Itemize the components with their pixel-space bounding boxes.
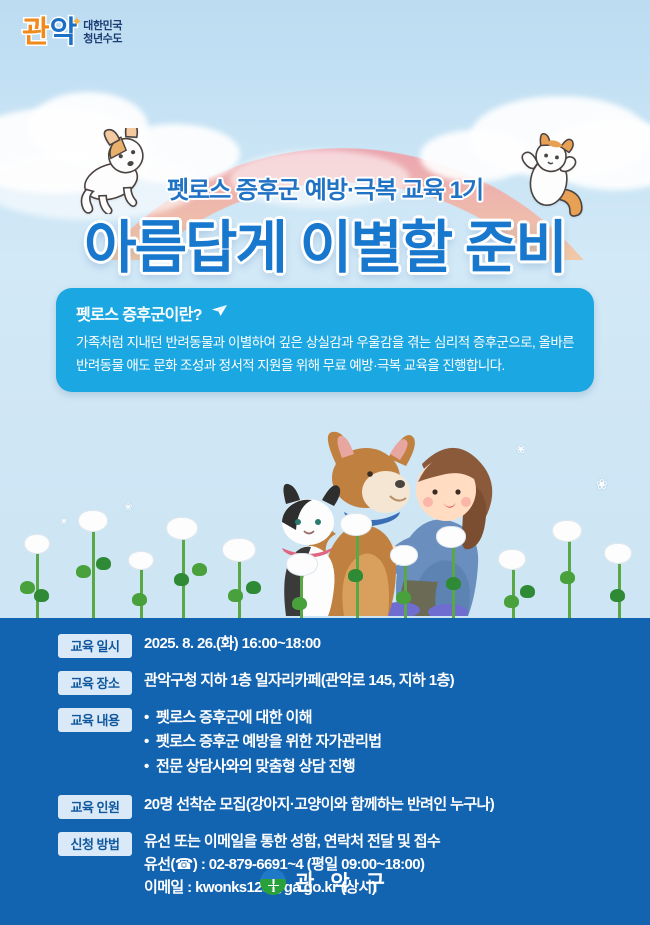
- clover-leaf: [192, 563, 207, 576]
- poster: 관 악 ✦ 대한민국 청년수도: [0, 0, 650, 925]
- clover-bloom: [24, 534, 50, 554]
- clover-bloom: [436, 526, 466, 548]
- clover-stem: [512, 562, 515, 620]
- clover-stem: [404, 558, 407, 620]
- clover-stem: [92, 524, 95, 620]
- definition-box-title: 펫로스 증후군이란?: [76, 301, 574, 325]
- list-item: 펫로스 증후군에 대한 이해: [144, 706, 618, 730]
- definition-box: 펫로스 증후군이란? 가족처럼 지내던 반려동물과 이별하여 깊은 상실감과 우…: [56, 288, 594, 392]
- definition-box-body: 가족처럼 지내던 반려동물과 이별하여 깊은 상실감과 우울감을 겪는 심리적 …: [76, 331, 574, 377]
- content-bullet-list: 펫로스 증후군에 대한 이해 펫로스 증후군 예방을 위한 자가관리법 전문 상…: [144, 706, 618, 779]
- poster-kicker: 펫로스 증후군 예방·극복 교육 1기: [0, 170, 650, 205]
- definition-box-title-text: 펫로스 증후군이란?: [76, 301, 202, 325]
- clover-bloom: [340, 513, 372, 536]
- details-panel: 교육 일시 2025. 8. 26.(화) 16:00~18:00 교육 장소 …: [0, 618, 650, 925]
- clover-leaf: [174, 573, 189, 586]
- clover-leaf: [396, 591, 411, 604]
- detail-row-location: 교육 장소 관악구청 지하 1층 일자리카페(관악로 145, 지하 1층): [58, 669, 618, 695]
- clover-leaf: [132, 593, 147, 606]
- sparkle-icon: ✦: [71, 15, 82, 28]
- clover-stem: [618, 556, 621, 620]
- illustration-scene: ❀ ❀ ❀ ❀: [0, 420, 650, 620]
- clover-bloom: [128, 551, 154, 570]
- logo-tagline-line-1: 대한민국: [83, 20, 122, 33]
- footer-office-name: 관 악 구: [295, 867, 390, 897]
- detail-label: 교육 내용: [58, 708, 132, 732]
- logo-char-gwan: 관: [22, 18, 49, 48]
- clover-leaf: [228, 589, 243, 602]
- detail-label: 신청 방법: [58, 832, 132, 856]
- clover-leaf: [560, 571, 575, 584]
- clover-bloom: [390, 545, 418, 566]
- detail-value: 펫로스 증후군에 대한 이해 펫로스 증후군 예방을 위한 자가관리법 전문 상…: [144, 706, 618, 779]
- application-line-1: 유선 또는 이메일을 통한 성함, 연락처 전달 및 접수: [144, 830, 618, 853]
- detail-label: 교육 장소: [58, 671, 132, 695]
- clover-leaf: [34, 589, 49, 602]
- logo-tagline: 대한민국 청년수도: [83, 20, 122, 46]
- clover-leaf: [246, 581, 261, 594]
- logo-mark: 관 악 ✦: [22, 18, 76, 48]
- logo-tagline-line-2: 청년수도: [83, 33, 122, 46]
- clover-leaf: [292, 597, 307, 610]
- clover-stem: [238, 554, 241, 620]
- clover-leaf: [348, 569, 363, 582]
- detail-label: 교육 일시: [58, 634, 132, 658]
- clover-bloom: [498, 549, 526, 570]
- gwanak-youth-capital-logo: 관 악 ✦ 대한민국 청년수도: [22, 18, 122, 48]
- clover-leaf: [610, 589, 625, 602]
- list-item: 펫로스 증후군 예방을 위한 자가관리법: [144, 730, 618, 754]
- gwanak-gu-emblem-icon: [260, 869, 286, 895]
- clover-bloom: [286, 553, 318, 576]
- clover-stem: [140, 564, 143, 620]
- clover-leaf: [504, 595, 519, 608]
- detail-row-capacity: 교육 인원 20명 선착순 모집(강아지·고양이와 함께하는 반려인 누구나): [58, 793, 618, 819]
- clover-bloom: [552, 520, 582, 542]
- clover-bloom: [222, 538, 256, 562]
- detail-value: 2025. 8. 26.(화) 16:00~18:00: [144, 632, 618, 655]
- footer-branding: 관 악 구: [0, 867, 650, 897]
- clover-leaf: [20, 581, 35, 594]
- list-item: 전문 상담사와의 맞춤형 상담 진행: [144, 755, 618, 779]
- detail-label: 교육 인원: [58, 795, 132, 819]
- detail-row-content: 교육 내용 펫로스 증후군에 대한 이해 펫로스 증후군 예방을 위한 자가관리…: [58, 706, 618, 779]
- clover-field: [0, 510, 650, 620]
- clover-stem: [36, 546, 39, 620]
- paper-plane-icon: [211, 304, 228, 322]
- clover-bloom: [78, 510, 108, 532]
- clover-leaf: [520, 585, 535, 598]
- clover-leaf: [446, 577, 461, 590]
- clover-bloom: [166, 517, 198, 540]
- page-title: 아름답게 이별할 준비: [0, 202, 650, 284]
- detail-value: 20명 선착순 모집(강아지·고양이와 함께하는 반려인 누구나): [144, 793, 618, 816]
- clover-bloom: [604, 543, 632, 564]
- detail-row-datetime: 교육 일시 2025. 8. 26.(화) 16:00~18:00: [58, 632, 618, 658]
- clover-leaf: [96, 557, 111, 570]
- detail-value: 관악구청 지하 1층 일자리카페(관악로 145, 지하 1층): [144, 669, 618, 692]
- clover-leaf: [76, 565, 91, 578]
- butterfly-icon: ❀: [596, 476, 608, 493]
